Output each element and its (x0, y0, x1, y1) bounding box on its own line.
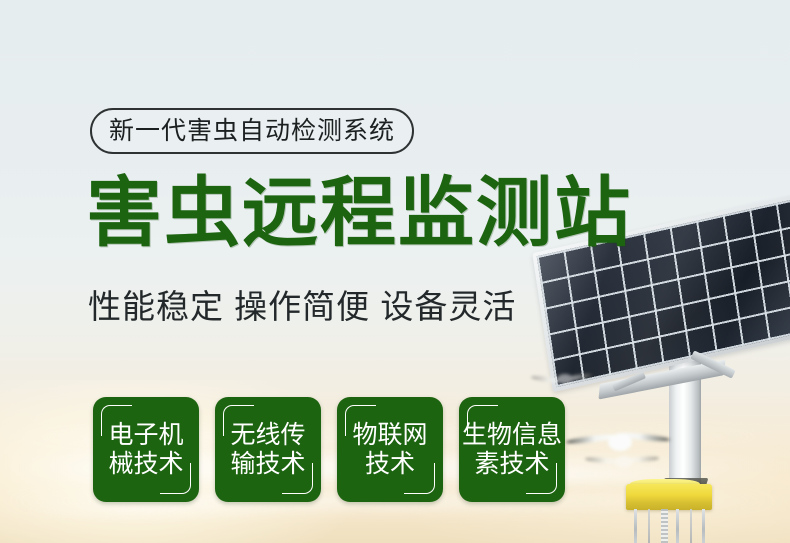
seagull-icon (585, 453, 659, 469)
seagull-icon (566, 428, 670, 456)
feature-tag-biological-pheromone[interactable]: 生物信息 素技术 (459, 397, 565, 502)
feature-tag-label: 电子机 械技术 (108, 421, 183, 478)
tagline-badge: 新一代害虫自动检测系统 (90, 108, 414, 154)
collection-coil-icon (661, 509, 668, 543)
feature-tag-label: 无线传 输技术 (230, 421, 305, 478)
collection-rod-icon (676, 509, 679, 543)
feature-tag-wireless-transmission[interactable]: 无线传 输技术 (215, 397, 321, 502)
feature-tag-label: 物联网 技术 (352, 421, 427, 478)
device-housing-icon (626, 484, 712, 510)
feature-tag-label: 生物信息 素技术 (462, 421, 562, 478)
collection-rod-icon (648, 509, 650, 543)
feature-tag-list: 电子机 械技术 无线传 输技术 物联网 技术 生物信息 素技术 (93, 397, 565, 502)
collection-rod-icon (702, 509, 705, 543)
page-title: 害虫远程监测站 (86, 176, 632, 252)
feature-tag-electro-mechanical[interactable]: 电子机 械技术 (93, 397, 199, 502)
page-subtitle: 性能稳定 操作简便 设备灵活 (88, 286, 516, 327)
tagline-badge-label: 新一代害虫自动检测系统 (109, 119, 395, 144)
collection-rod-icon (690, 509, 692, 543)
feature-tag-iot[interactable]: 物联网 技术 (337, 397, 443, 502)
seagull-icon (531, 372, 593, 386)
banner-stage: 新一代害虫自动检测系统 害虫远程监测站 性能稳定 操作简便 设备灵活 电子机 械… (0, 0, 790, 543)
collection-rod-icon (634, 509, 637, 543)
